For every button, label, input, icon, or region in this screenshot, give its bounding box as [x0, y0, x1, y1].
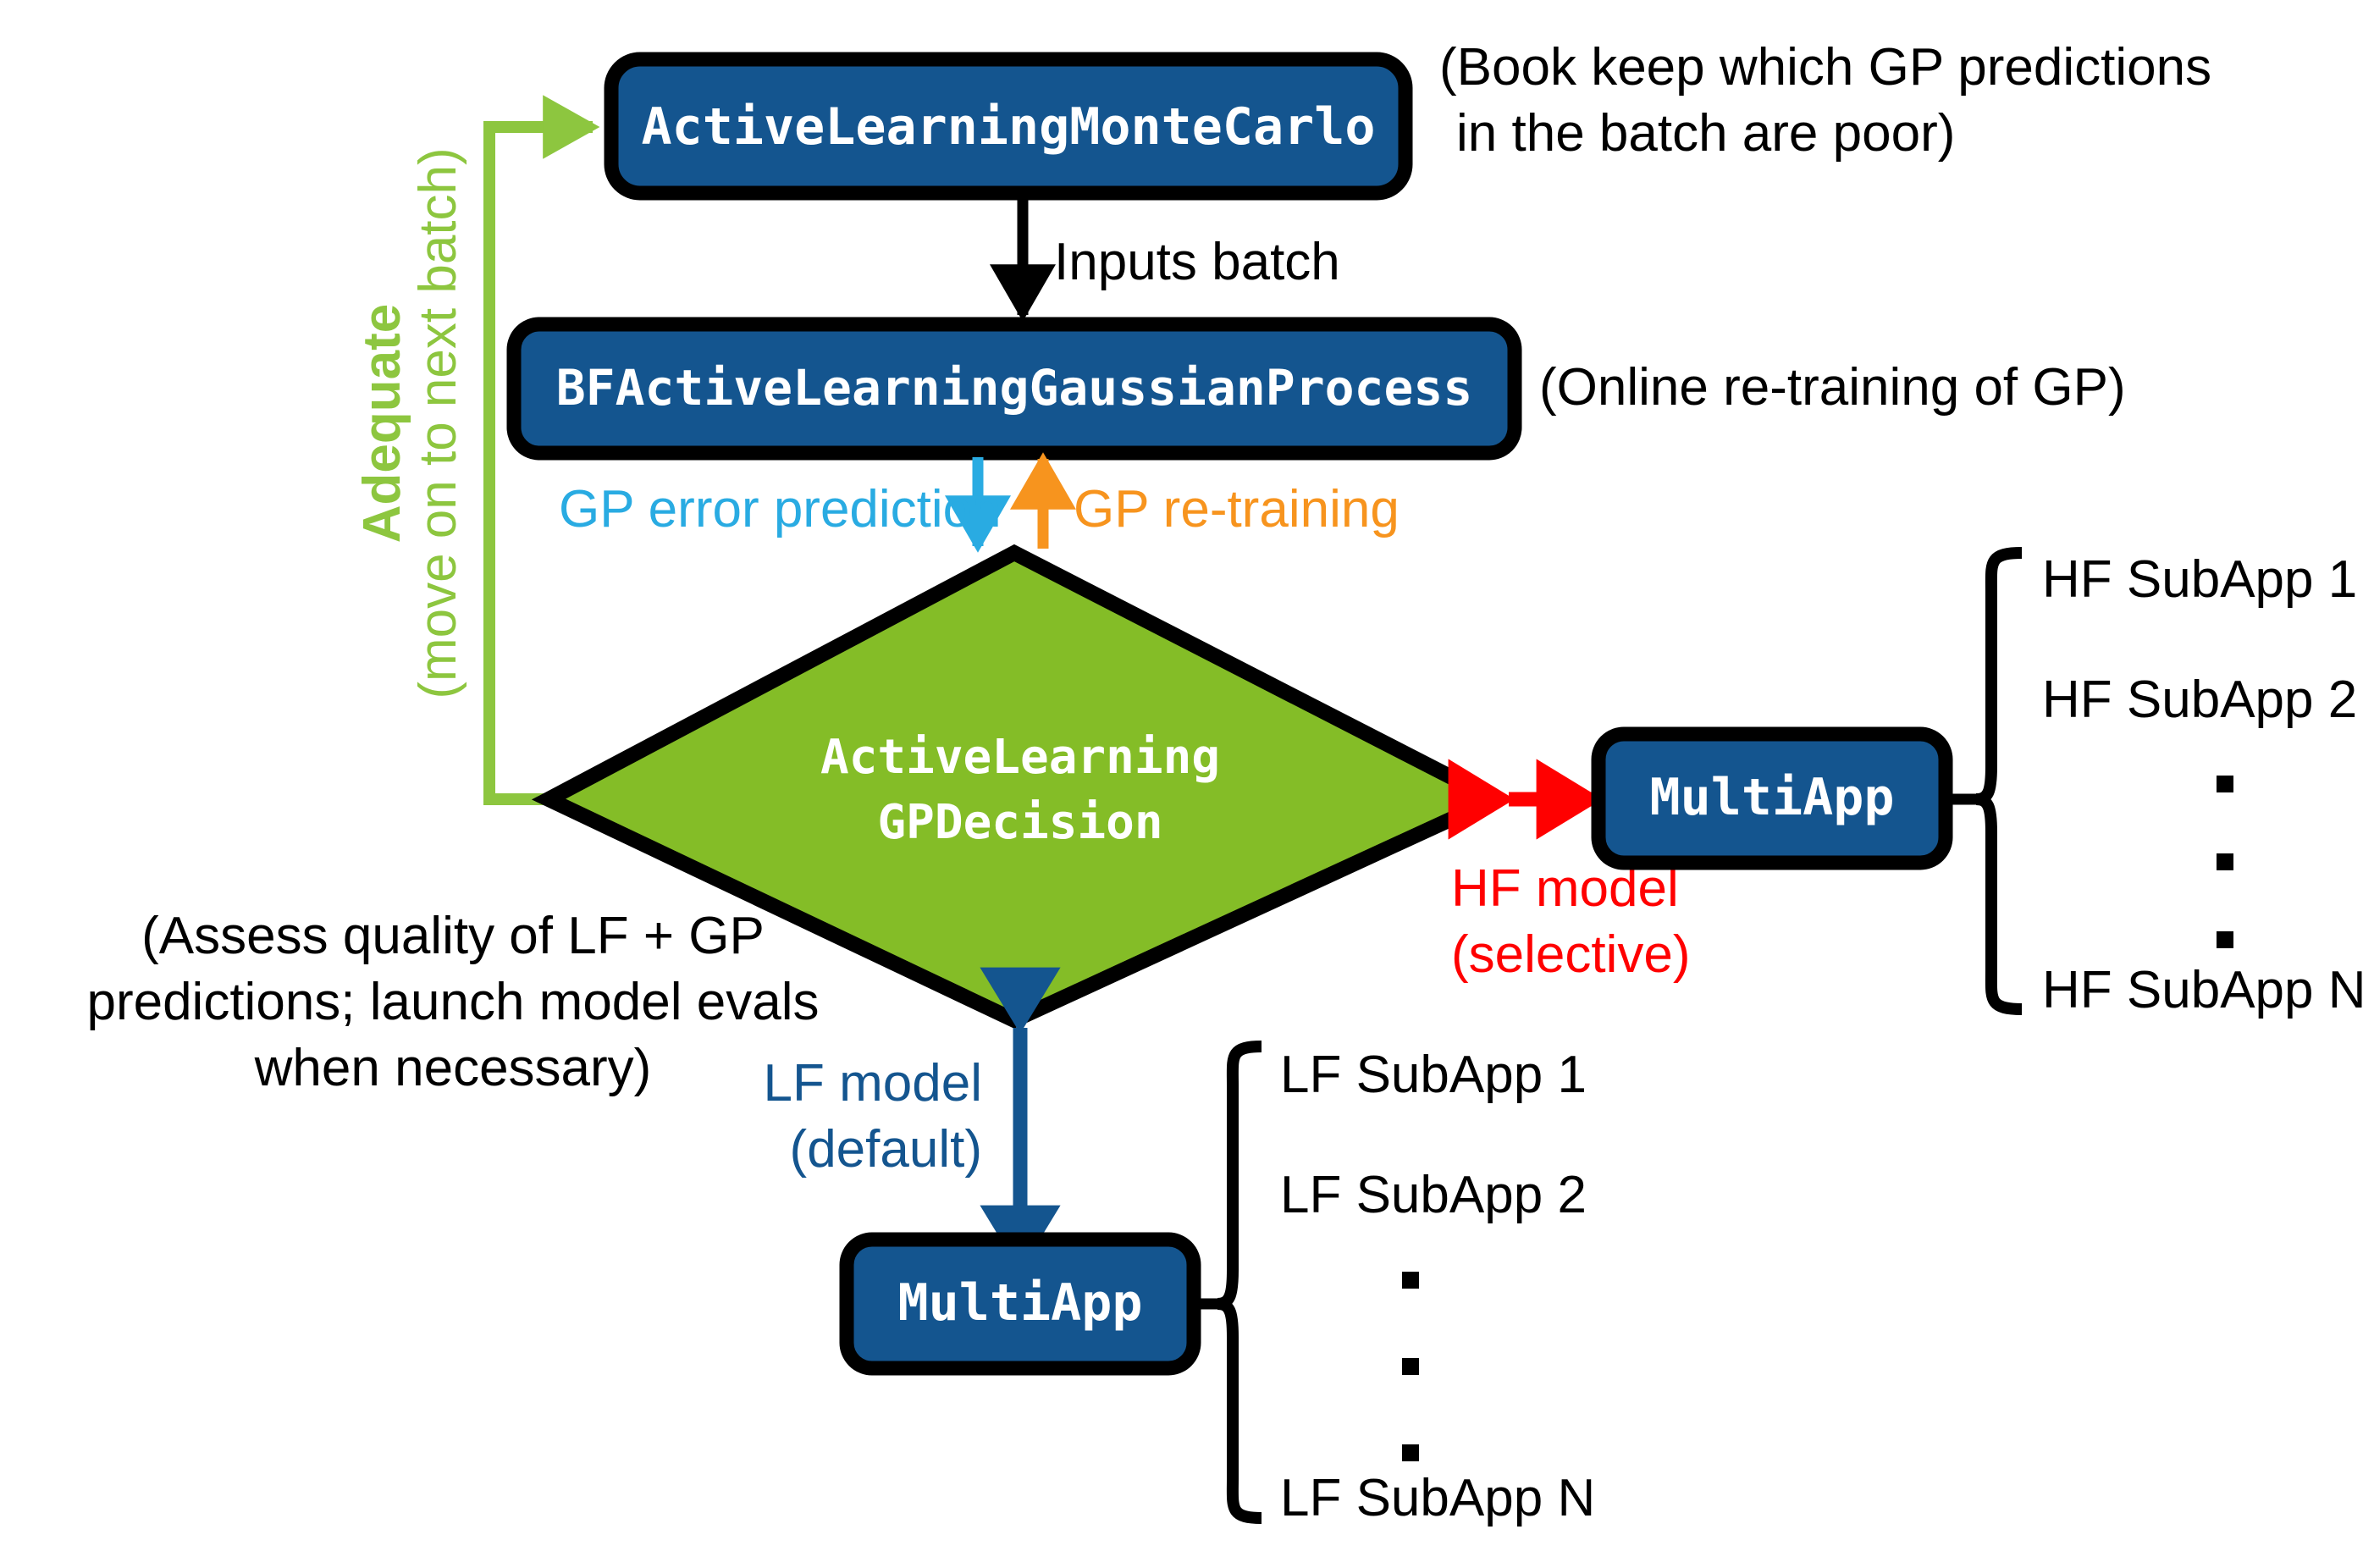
hf-model-label-line2: (selective) — [1451, 925, 1691, 984]
inputs-batch-label: Inputs batch — [1054, 233, 1340, 291]
diagram-canvas: Adequate (move on to next batch) ActiveL… — [0, 0, 2374, 1568]
adequate-loop-path — [489, 127, 593, 799]
lf-subapp-brace — [1217, 1046, 1262, 1518]
node-activelearningmontecarlo[interactable]: ActiveLearningMonteCarlo — [611, 59, 1405, 193]
multiapp-lf-box-label: MultiApp — [898, 1273, 1143, 1333]
hf-subapp-item-n: HF SubApp N — [2042, 961, 2366, 1019]
gpdecision-note-line1: (Assess quality of LF + GP — [141, 907, 765, 965]
edge-gp-retraining: GP re-training — [1043, 459, 1400, 549]
lf-model-label-line1: LF model — [764, 1054, 982, 1113]
edge-inputs-batch: Inputs batch — [1023, 196, 1340, 315]
hf-subapp-list: HF SubApp 1 HF SubApp 2 HF SubApp N — [2042, 550, 2366, 1019]
multiapp-hf-box-label: MultiApp — [1650, 768, 1895, 827]
node-multiapp-lf[interactable]: MultiApp — [847, 1239, 1194, 1368]
lf-subapp-item-1: LF SubApp 1 — [1280, 1046, 1587, 1104]
lf-model-label-line2: (default) — [790, 1120, 982, 1179]
node-multiapp-hf[interactable]: MultiApp — [1598, 734, 1946, 863]
hf-subapp-item-2: HF SubApp 2 — [2042, 671, 2357, 729]
hf-subapp-ellipsis-dot-2 — [2217, 853, 2233, 870]
lf-subapp-ellipsis-dot-2 — [1402, 1358, 1419, 1375]
hf-subapp-ellipsis-dot-1 — [2217, 776, 2233, 792]
lf-subapp-item-2: LF SubApp 2 — [1280, 1166, 1587, 1224]
lf-brace-shape — [1217, 1046, 1262, 1518]
gpdecision-label-line2: GPDecision — [877, 795, 1162, 850]
edge-gp-error-prediction: GP error prediction — [559, 457, 1002, 546]
hf-subapp-ellipsis-dot-3 — [2217, 931, 2233, 948]
gp-retraining-label: GP re-training — [1074, 480, 1400, 538]
lf-subapp-item-n: LF SubApp N — [1280, 1469, 1595, 1527]
edge-adequate-loop: Adequate (move on to next batch) — [353, 127, 593, 799]
flowchart-diagram: Adequate (move on to next batch) ActiveL… — [0, 0, 2374, 1568]
gpdecision-label-line1: ActiveLearning — [820, 730, 1220, 785]
edge-lf-model: LF model (default) — [764, 1028, 1020, 1266]
gpdecision-note: (Assess quality of LF + GP predictions; … — [86, 907, 819, 1097]
lf-subapp-ellipsis-dot-1 — [1402, 1272, 1419, 1289]
gpdecision-note-line2: predictions; launch model evals — [86, 973, 819, 1031]
montecarlo-note-line1: (Book keep which GP predictions — [1439, 38, 2211, 97]
gp-error-prediction-label: GP error prediction — [559, 480, 1002, 538]
hf-subapp-brace — [1976, 553, 2022, 1009]
montecarlo-box-label: ActiveLearningMonteCarlo — [642, 97, 1376, 157]
node-bfactivelearninggaussianprocess[interactable]: BFActiveLearningGaussianProcess — [514, 324, 1515, 453]
adequate-loop-label-line1: Adequate — [353, 304, 411, 543]
adequate-loop-label-line2: (move on to next batch) — [409, 147, 467, 698]
montecarlo-note-line2: in the batch are poor) — [1456, 104, 1955, 163]
montecarlo-note: (Book keep which GP predictions in the b… — [1439, 38, 2211, 163]
hf-brace-shape — [1976, 553, 2022, 1009]
gaussianprocess-box-label: BFActiveLearningGaussianProcess — [556, 359, 1473, 417]
hf-subapp-item-1: HF SubApp 1 — [2042, 550, 2357, 609]
gaussianprocess-note: (Online re-training of GP) — [1539, 358, 2126, 417]
lf-subapp-ellipsis-dot-3 — [1402, 1444, 1419, 1461]
adequate-loop-label-group: Adequate (move on to next batch) — [353, 147, 467, 698]
gpdecision-note-line3: when necessary) — [254, 1039, 652, 1097]
lf-subapp-list: LF SubApp 1 LF SubApp 2 LF SubApp N — [1280, 1046, 1595, 1527]
